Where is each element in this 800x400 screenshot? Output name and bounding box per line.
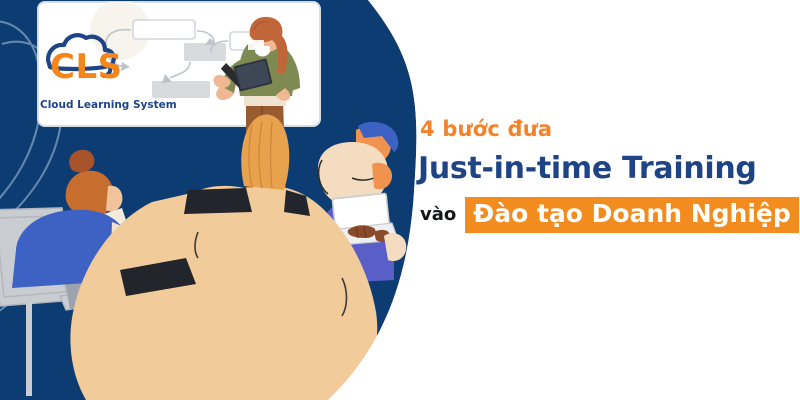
flow-box-3 <box>184 43 226 61</box>
cls-logo-text: CLS <box>50 47 123 87</box>
cls-tagline: Cloud Learning System <box>40 99 177 111</box>
flow-box-4 <box>152 81 210 98</box>
highlight-badge: Đào tạo Doanh Nghiệp <box>465 197 799 233</box>
headline-block: 4 bước đưa Just-in-time Training vào Đào… <box>418 118 790 233</box>
poster-canvas: CLS Cloud Learning System <box>0 0 800 400</box>
flow-box-1 <box>133 20 195 39</box>
connector-text: vào <box>420 206 456 224</box>
page-title: Just-in-time Training <box>418 152 790 185</box>
subtitle-row: vào Đào tạo Doanh Nghiệp <box>420 197 790 233</box>
eyebrow-text: 4 bước đưa <box>420 118 790 141</box>
